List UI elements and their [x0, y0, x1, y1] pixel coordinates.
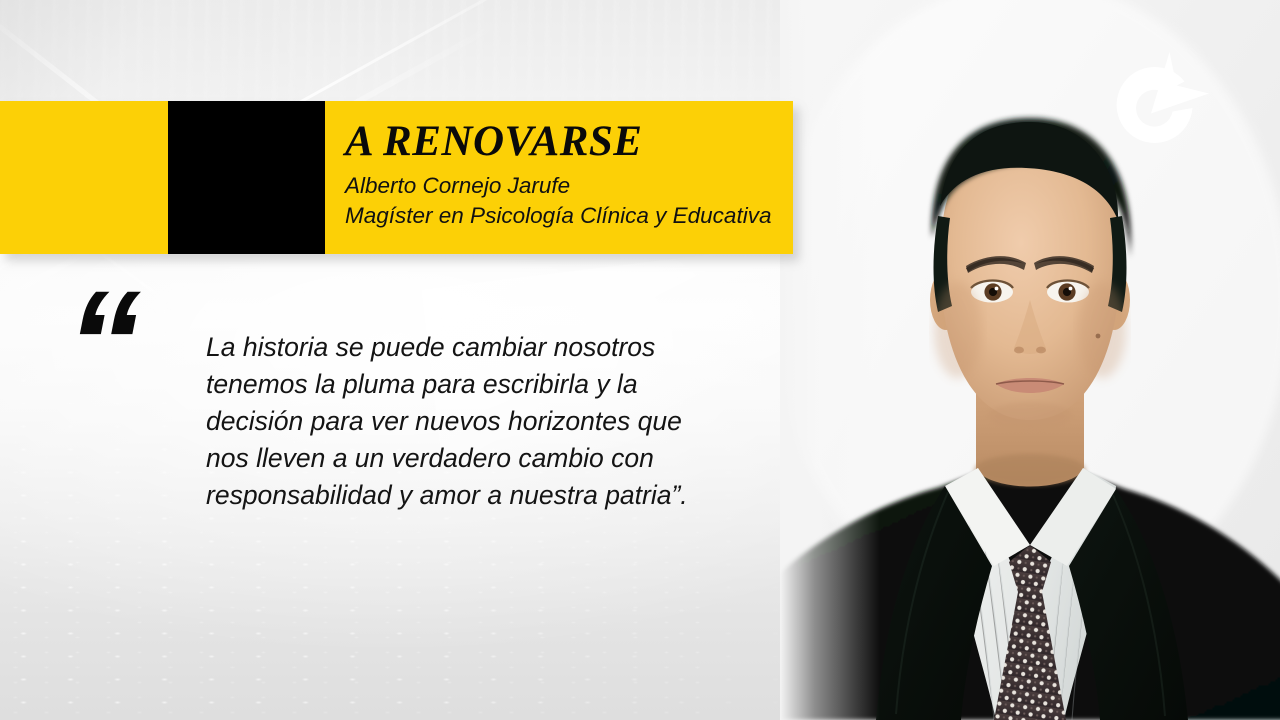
- banner-black-block: [168, 101, 325, 254]
- quote-line: La historia se puede cambiar nosotros: [206, 329, 806, 366]
- circular-arrow-logo[interactable]: [1106, 52, 1212, 158]
- banner-text-group: A RENOVARSE Alberto Cornejo Jarufe Magís…: [345, 101, 793, 254]
- opening-quote-mark: “: [66, 268, 137, 418]
- banner-credential: Magíster en Psicología Clínica y Educati…: [345, 201, 793, 231]
- quote-line: tenemos la pluma para escribirla y la: [206, 366, 806, 403]
- logo-icon: [1106, 52, 1212, 158]
- quote-line: responsabilidad y amor a nuestra patria”…: [206, 477, 806, 514]
- title-banner: A RENOVARSE Alberto Cornejo Jarufe Magís…: [0, 101, 793, 254]
- banner-title: A RENOVARSE: [345, 101, 793, 163]
- quote-line: decisión para ver nuevos horizontes que: [206, 403, 806, 440]
- graphic-card: A RENOVARSE Alberto Cornejo Jarufe Magís…: [0, 0, 1280, 720]
- quote-line: nos lleven a un verdadero cambio con: [206, 440, 806, 477]
- banner-author: Alberto Cornejo Jarufe: [345, 163, 793, 201]
- quote-text: La historia se puede cambiar nosotros te…: [206, 329, 806, 514]
